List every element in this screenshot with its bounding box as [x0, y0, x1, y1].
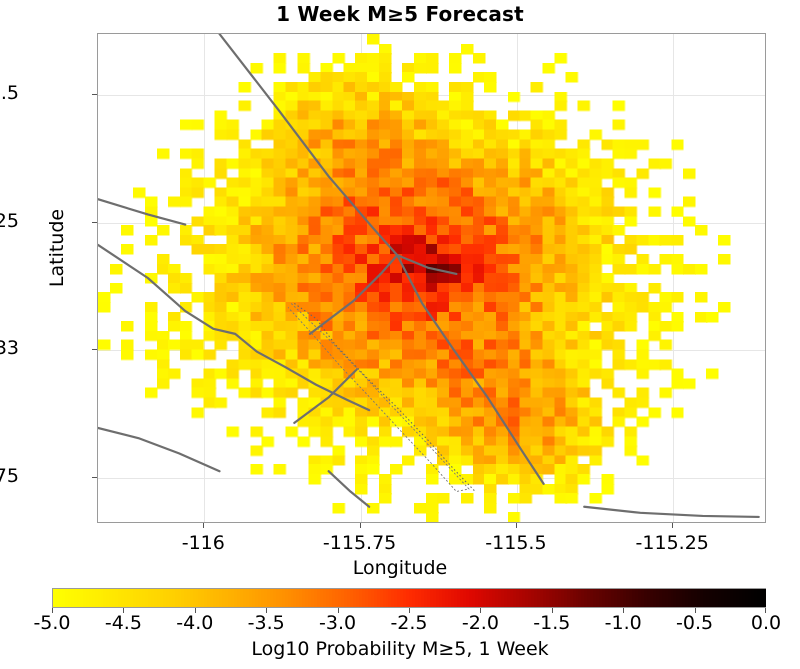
- colorbar-segment: [763, 589, 766, 607]
- x-tick-label: -115.5: [446, 532, 586, 554]
- y-tick-mark: [92, 477, 97, 478]
- fault-line: [584, 507, 758, 517]
- x-tick-mark: [360, 523, 361, 528]
- fault-line: [98, 428, 220, 471]
- x-tick-label: -115.25: [602, 532, 742, 554]
- map-plot-area: [97, 33, 766, 523]
- y-tick-label: 33.5: [0, 82, 19, 104]
- x-tick-mark: [516, 523, 517, 528]
- colorbar-tick-label: 0.0: [721, 612, 800, 634]
- y-tick-mark: [92, 94, 97, 95]
- forecast-figure: 1 Week M≥5 Forecast -116-115.75-115.5-11…: [0, 0, 800, 669]
- y-tick-mark: [92, 349, 97, 350]
- fault-line: [310, 255, 397, 334]
- x-tick-mark: [203, 523, 204, 528]
- y-tick-label: 33.25: [0, 210, 19, 232]
- fault-line-layer: [98, 34, 765, 522]
- x-tick-mark: [672, 523, 673, 528]
- fault-line: [329, 471, 370, 507]
- x-tick-label: -116: [133, 532, 273, 554]
- x-tick-label: -115.75: [290, 532, 430, 554]
- colorbar-title: Log10 Probability M≥5, 1 Week: [0, 638, 800, 660]
- colorbar: [52, 588, 766, 608]
- x-axis-title: Longitude: [0, 557, 800, 579]
- y-tick-mark: [92, 222, 97, 223]
- colorbar-tick-labels: -5.0-4.5-4.0-3.5-3.0-2.5-2.0-1.5-1.0-0.5…: [0, 612, 800, 638]
- fault-line: [98, 245, 369, 410]
- fault-line: [98, 199, 185, 224]
- y-tick-label: 33: [0, 337, 19, 359]
- chart-title: 1 Week M≥5 Forecast: [0, 2, 800, 26]
- fault-line: [220, 34, 398, 255]
- y-axis-title: Latitude: [46, 158, 68, 338]
- y-tick-label: 32.75: [0, 465, 19, 487]
- fault-line: [397, 255, 543, 484]
